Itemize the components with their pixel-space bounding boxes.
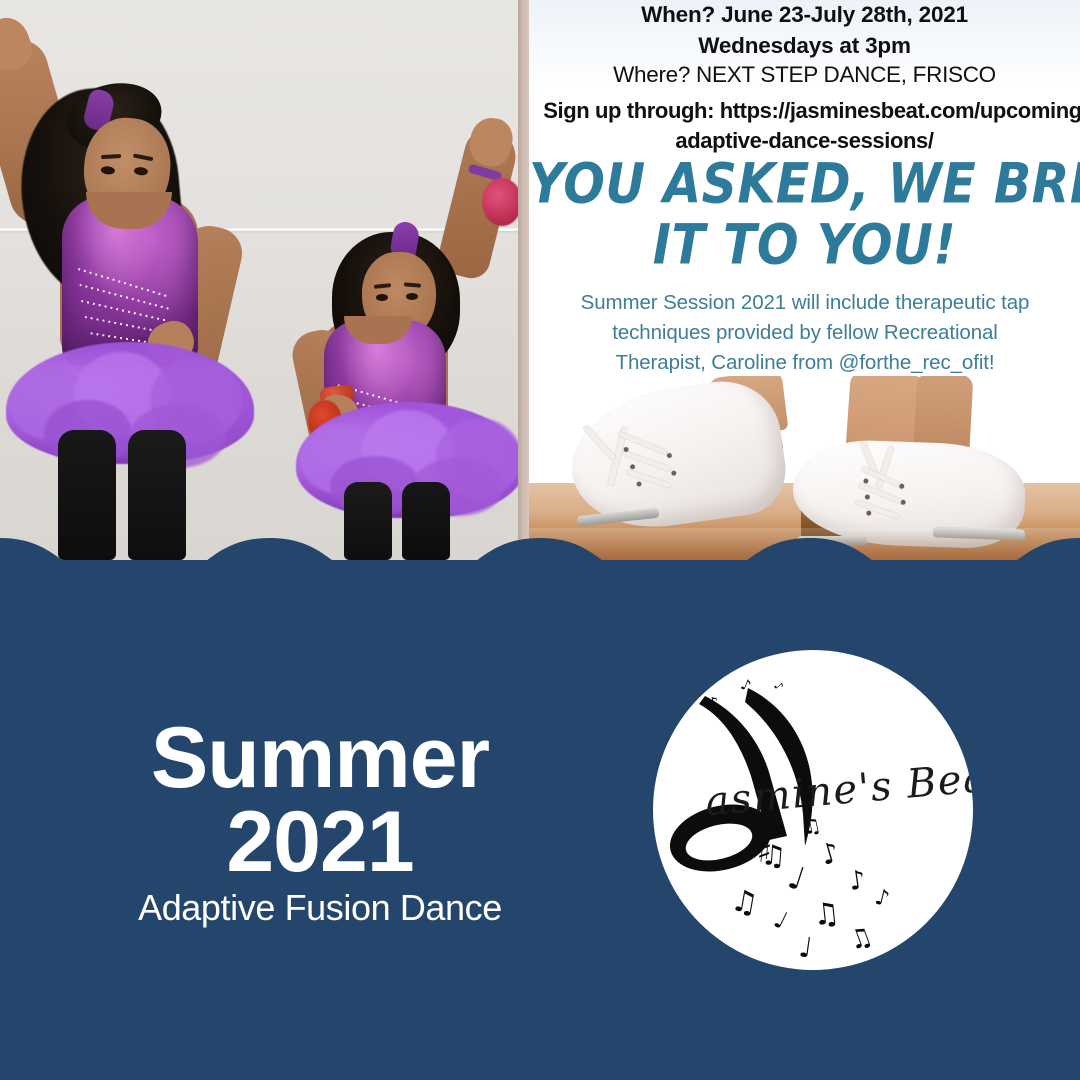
dancers-photo bbox=[0, 0, 521, 560]
dancer-b-leg-right bbox=[402, 482, 450, 560]
top-media-section: When? June 23-July 28th, 2021 Wednesdays… bbox=[0, 0, 1080, 560]
season-title-line-2: 2021 bbox=[0, 800, 640, 884]
season-title-line-1: Summer bbox=[0, 716, 640, 800]
dancer-b-pink-pom bbox=[482, 178, 521, 226]
music-note-icon: ♫ bbox=[760, 841, 787, 871]
music-note-icon: ♫ bbox=[729, 886, 761, 920]
flyer-signup-url-continued[interactable]: adaptive-dance-sessions/ bbox=[529, 128, 1080, 154]
flyer-canvas: When? June 23-July 28th, 2021 Wednesdays… bbox=[0, 0, 1080, 1080]
flyer-signup-url[interactable]: Sign up through: https://jasminesbeat.co… bbox=[537, 98, 1080, 124]
floor-reflection bbox=[529, 528, 1080, 560]
bottom-brand-section: Summer 2021 Adaptive Fusion Dance asmine… bbox=[0, 560, 1080, 1080]
session-flyer-panel: When? June 23-July 28th, 2021 Wednesdays… bbox=[529, 0, 1080, 560]
flyer-headline-line-1: YOU ASKED, WE BRING bbox=[529, 152, 1080, 216]
music-note-icon: ♫ bbox=[801, 814, 823, 837]
tap-shoes-photo bbox=[529, 376, 1080, 560]
flyer-when-line: When? June 23-July 28th, 2021 bbox=[529, 2, 1080, 28]
jasmines-beat-logo[interactable]: asmine's Beat ♪ ♪ ♪ ♪ ♪ ♫ ♯ ♫ ♪ ♩ ♪ ♫ ♫ … bbox=[653, 650, 973, 970]
music-note-icon: ♫ bbox=[812, 899, 842, 932]
flyer-body-paragraph: Summer Session 2021 will include therape… bbox=[565, 288, 1045, 378]
program-subtitle: Adaptive Fusion Dance bbox=[0, 887, 640, 929]
music-note-icon: ♪ bbox=[847, 867, 867, 895]
photo-flyer-divider bbox=[518, 0, 529, 560]
flyer-headline-line-2: IT TO YOU! bbox=[529, 213, 1080, 277]
dancer-a-leg-left bbox=[58, 430, 116, 560]
dancer-a-leg-right bbox=[128, 430, 186, 560]
flyer-time-line: Wednesdays at 3pm bbox=[529, 33, 1080, 59]
dancer-b-leg-left bbox=[344, 482, 392, 560]
flyer-where-line: Where? NEXT STEP DANCE, FRISCO bbox=[529, 62, 1080, 88]
season-title: Summer 2021 bbox=[0, 716, 640, 884]
